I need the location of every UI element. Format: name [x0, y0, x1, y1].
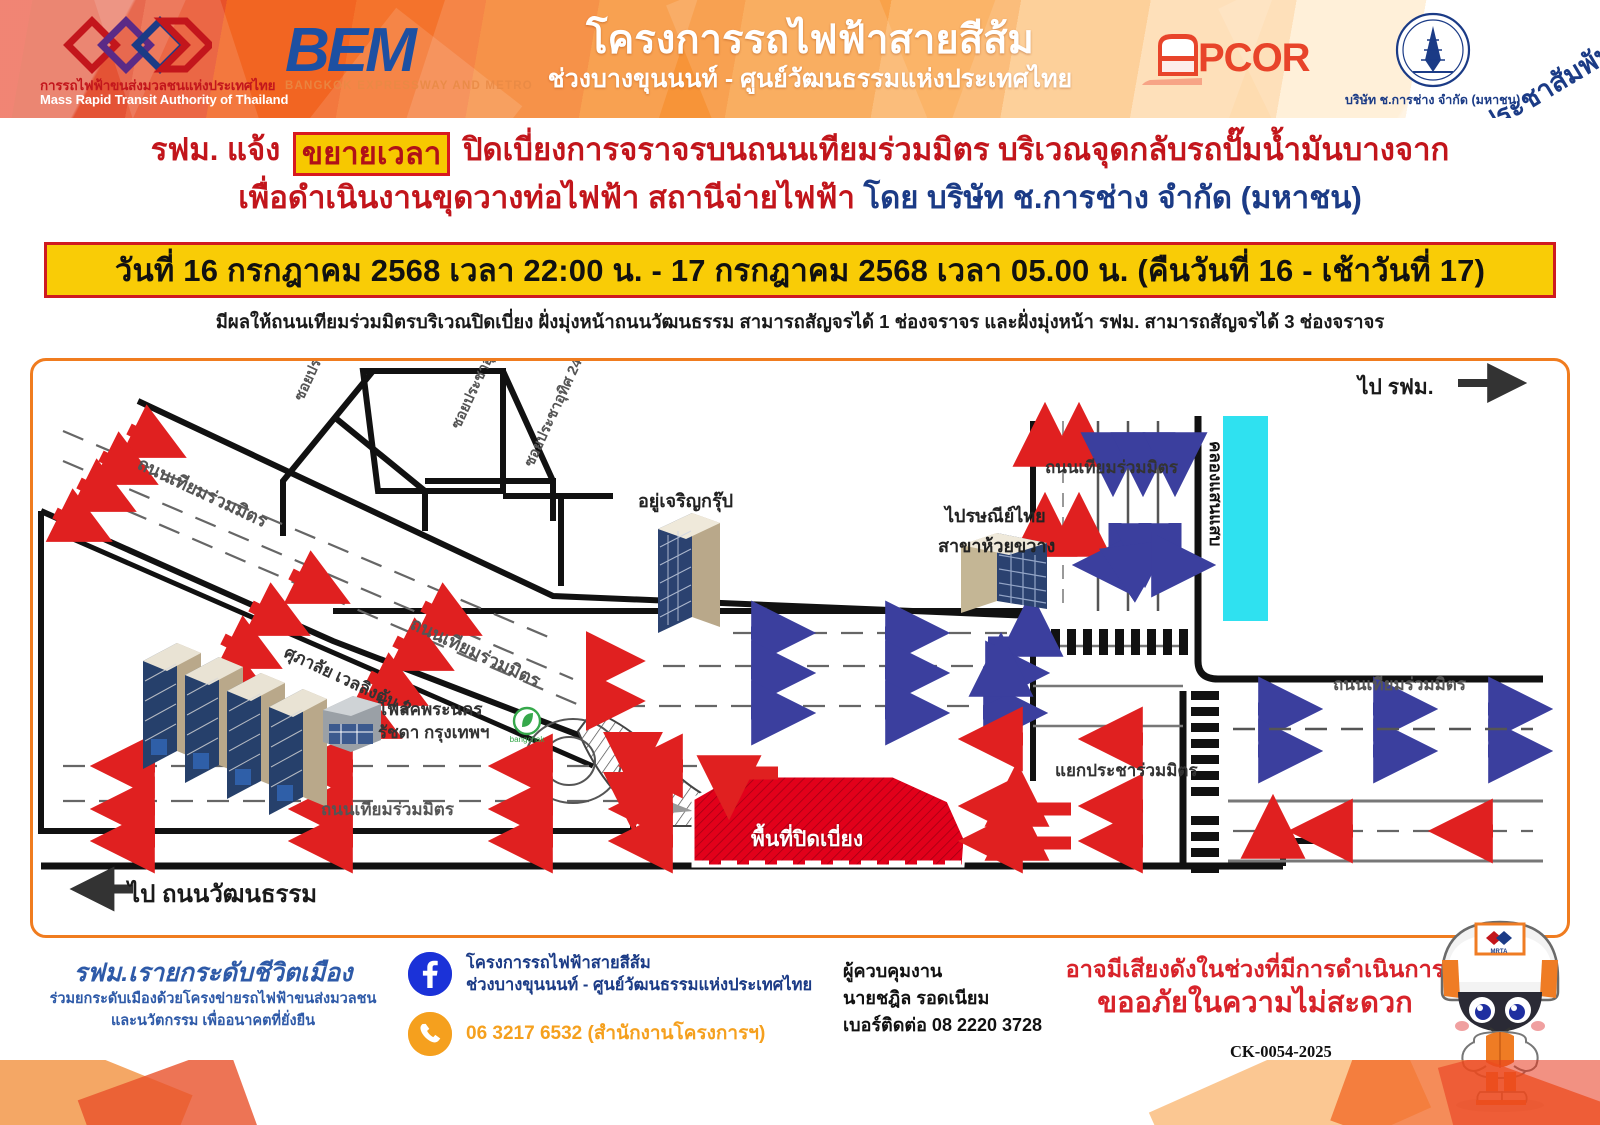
map-label-khlong-saen-saep: คลองแสนแสบ	[1202, 441, 1229, 546]
footer-slogan: รฟม.เรายกระดับชีวิตเมือง ร่วมยกระดับเมือ…	[48, 958, 378, 1032]
phone-row[interactable]: 06 3217 6532 (สำนักงานโครงการฯ)	[408, 1012, 808, 1060]
map-label-thiam-ruam-mit-4: ถนนเทียมร่วมมิตร	[1045, 454, 1178, 481]
map-label-thiam-ruam-mit-5: ถนนเทียมร่วมมิตร	[1333, 671, 1466, 698]
building-yucharoen-group	[658, 513, 720, 633]
facebook-row[interactable]: โครงการรถไฟฟ้าสายสีส้ม ช่วงบางขุนนนท์ - …	[408, 952, 808, 1000]
footer-slogan-sub2: และนวัตกรรม เพื่ออนาคตที่ยั่งยืน	[48, 1010, 378, 1032]
bem-logo-text: BEM	[285, 20, 500, 82]
date-banner-text: วันที่ 16 กรกฎาคม 2568 เวลา 22:00 น. - 1…	[115, 245, 1485, 295]
notice-headline: รฟม. แจ้ง ขยายเวลา ปิดเบี่ยงการจราจรบนถน…	[0, 128, 1600, 220]
map-label-to-mrta: ไป รฟม.	[1358, 371, 1434, 404]
svg-text:bangchak: bangchak	[510, 735, 546, 744]
svg-text:MRTA: MRTA	[1491, 949, 1509, 955]
facebook-text: โครงการรถไฟฟ้าสายสีส้ม ช่วงบางขุนนนท์ - …	[466, 952, 812, 996]
notice-line-1: รฟม. แจ้ง ขยายเวลา ปิดเบี่ยงการจราจรบนถน…	[0, 128, 1600, 176]
project-title: โครงการรถไฟฟ้าสายสีส้ม ช่วงบางขุนนนท์ - …	[520, 18, 1100, 94]
facebook-icon[interactable]	[408, 952, 452, 996]
footer-slogan-sub1: ร่วมยกระดับเมืองด้วยโครงข่ายรถไฟฟ้าขนส่ง…	[48, 988, 378, 1010]
facebook-line1: โครงการรถไฟฟ้าสายสีส้ม	[466, 952, 812, 974]
mrta-logo: การรถไฟฟ้าขนส่งมวลชนแห่งประเทศไทย Mass R…	[40, 12, 230, 112]
bem-logo-subtitle: BANGKOK EXPRESSWAY AND METRO	[285, 80, 500, 92]
facebook-line2: ช่วงบางขุนนนท์ - ศูนย์วัฒนธรรมแห่งประเทศ…	[466, 974, 812, 996]
map-label-yucharoen-group: อยู่เจริญกรุ๊ป	[638, 486, 733, 515]
mrta-chevron-logo-icon	[62, 14, 212, 76]
map-label-closure-area: พื้นที่ปิดเบี่ยง	[751, 823, 863, 856]
document-code: CK-0054-2025	[1230, 1042, 1332, 1062]
footer-supervisor: ผู้ควบคุมงาน นายชฎิล รอดเนียม เบอร์ติดต่…	[843, 958, 1042, 1039]
notice-line2-part-b: โดย บริษัท ช.การช่าง จำกัด (มหาชน)	[863, 180, 1361, 215]
map-label-volkswagen-2: รัชดา กรุงเทพฯ	[378, 719, 489, 746]
apology-line1: อาจมีเสียงดังในช่วงที่มีการดำเนินการ	[1055, 954, 1455, 984]
notice-line-2: เพื่อดำเนินงานขุดวางท่อไฟฟ้า สถานีจ่ายไฟ…	[0, 176, 1600, 220]
subnote-text: มีผลให้ถนนเทียมร่วมมิตรบริเวณปิดเบี่ยง ฝ…	[0, 308, 1600, 337]
footer-apology: อาจมีเสียงดังในช่วงที่มีการดำเนินการ ขออ…	[1055, 954, 1455, 1022]
phone-number: 06 3217 6532 (สำนักงานโครงการฯ)	[466, 1012, 765, 1056]
footer-social: โครงการรถไฟฟ้าสายสีส้ม ช่วงบางขุนนนท์ - …	[408, 952, 808, 1072]
page-header: การรถไฟฟ้าขนส่งมวลชนแห่งประเทศไทย Mass R…	[0, 0, 1600, 118]
crosswalk-vertical-2	[1191, 816, 1219, 873]
date-banner: วันที่ 16 กรกฎาคม 2568 เวลา 22:00 น. - 1…	[44, 242, 1556, 298]
footer-decoration	[0, 1060, 1600, 1125]
project-title-line1: โครงการรถไฟฟ้าสายสีส้ม	[520, 18, 1100, 62]
pcor-logo-text: PCOR	[1198, 36, 1310, 81]
phone-text-wrap: 06 3217 6532 (สำนักงานโครงการฯ)	[466, 1012, 765, 1056]
crosswalk-horizontal-1	[1051, 629, 1188, 655]
canal-khlong-saen-saep	[1223, 416, 1268, 621]
notice-line1-part-a: รฟม. แจ้ง	[151, 132, 281, 167]
mrta-logo-english-name: Mass Rapid Transit Authority of Thailand	[40, 92, 230, 107]
map-label-to-watthanatham: ไป ถนนวัฒนธรรม	[128, 874, 317, 913]
apology-line2: ขออภัยในความไม่สะดวก	[1055, 984, 1455, 1022]
blue-arrows-eastbound	[751, 633, 1017, 713]
phone-icon[interactable]	[408, 1012, 452, 1056]
notice-page: การรถไฟฟ้าขนส่งมวลชนแห่งประเทศไทย Mass R…	[0, 0, 1600, 1125]
supervisor-name: นายชฎิล รอดเนียม	[843, 985, 1042, 1012]
supervisor-phone: เบอร์ติดต่อ 08 2220 3728	[843, 1012, 1042, 1039]
bem-logo: BEM BANGKOK EXPRESSWAY AND METRO	[285, 20, 500, 105]
project-title-line2: ช่วงบางขุนนนท์ - ศูนย์วัฒนธรรมแห่งประเทศ…	[520, 64, 1100, 94]
notice-line2-part-a: เพื่อดำเนินงานขุดวางท่อไฟฟ้า สถานีจ่ายไฟ…	[238, 180, 855, 215]
map-label-thailand-post-2: สาขาห้วยขวาง	[938, 531, 1055, 560]
supervisor-label: ผู้ควบคุมงาน	[843, 958, 1042, 985]
notice-line1-part-b: ปิดเบี่ยงการจราจรบนถนนเทียมร่วมมิตร บริเ…	[463, 132, 1449, 167]
map-label-thailand-post-1: ไปรษณีย์ไทย	[945, 501, 1046, 530]
footer-slogan-main: รฟม.เรายกระดับชีวิตเมือง	[48, 958, 378, 988]
traffic-map-panel: bangchak	[30, 358, 1570, 938]
ck-seal-icon	[1383, 10, 1483, 90]
map-label-thiam-ruam-mit-3: ถนนเทียมร่วมมิตร	[321, 796, 454, 823]
notice-highlight-badge: ขยายเวลา	[293, 132, 450, 176]
map-label-yaek-pracha-ruam-mit: แยกประชาร่วมมิตร	[1055, 757, 1198, 784]
pcor-logo: PCOR	[1140, 28, 1330, 92]
